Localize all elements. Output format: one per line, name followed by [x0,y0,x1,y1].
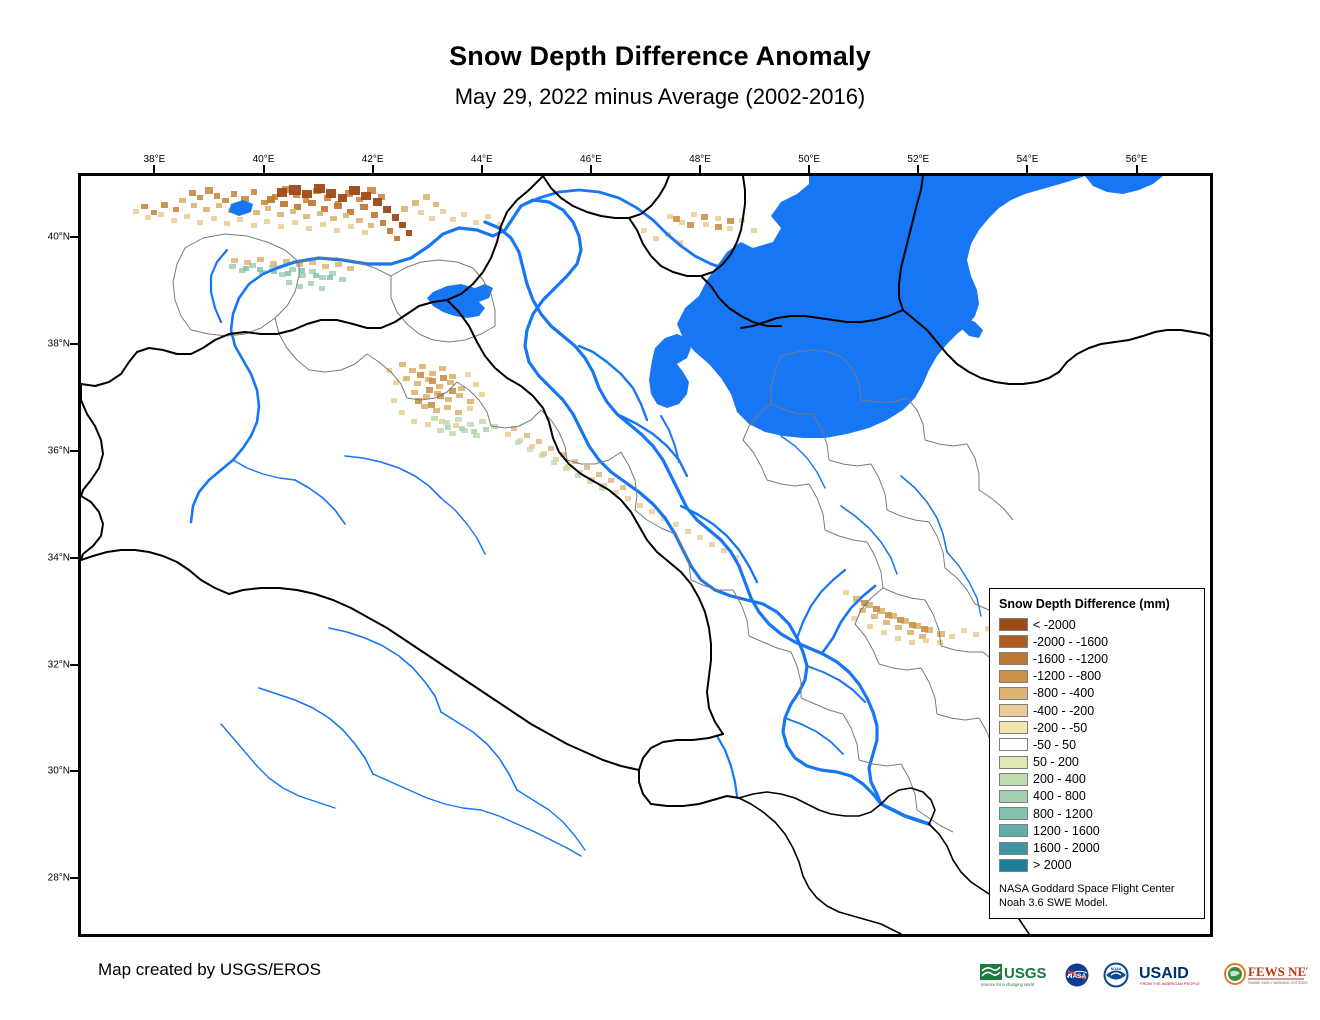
page-subtitle: May 29, 2022 minus Average (2002-2016) [0,85,1320,109]
latitude-tick-mark [70,877,78,879]
logo-bar: USGS science for a changing world NASA N… [980,958,1308,992]
legend-label: 1200 - 1600 [1033,824,1100,838]
longitude-tick-mark [917,165,919,173]
legend-row: -400 - -200 [999,702,1197,719]
legend-swatch [999,738,1028,751]
noaa-logo: NOAA [1102,962,1130,988]
longitude-tick-label: 54°E [1017,154,1039,165]
svg-text:NASA: NASA [1068,973,1087,980]
legend-row: 50 - 200 [999,754,1197,771]
longitude-tick-label: 48°E [689,154,711,165]
latitude-tick-label: 38°N [48,338,70,349]
latitude-tick-label: 32°N [48,659,70,670]
legend-swatch [999,687,1028,700]
usgs-logo: USGS science for a changing world [980,962,1052,988]
legend-row: -800 - -400 [999,685,1197,702]
latitude-tick-label: 30°N [48,766,70,777]
legend-row: -200 - -50 [999,719,1197,736]
legend-class-list: < -2000-2000 - -1600-1600 - -1200-1200 -… [999,616,1197,874]
longitude-tick-label: 46°E [580,154,602,165]
legend-label: -400 - -200 [1033,704,1094,718]
legend-label: -1600 - -1200 [1033,652,1108,666]
latitude-tick-label: 34°N [48,552,70,563]
latitude-tick-mark [70,343,78,345]
map-page: Snow Depth Difference Anomaly May 29, 20… [0,0,1320,1020]
longitude-tick-label: 42°E [362,154,384,165]
legend-swatch [999,704,1028,717]
legend-row: 800 - 1200 [999,805,1197,822]
legend-label: -1200 - -800 [1033,669,1101,683]
latitude-tick-mark [70,770,78,772]
legend-label: 200 - 400 [1033,772,1086,786]
legend-label: 400 - 800 [1033,789,1086,803]
legend-swatch [999,756,1028,769]
legend-row: 400 - 800 [999,788,1197,805]
svg-text:FAMINE EARLY WARNING SYSTEMS N: FAMINE EARLY WARNING SYSTEMS NETWORK [1248,981,1308,985]
legend-swatch [999,635,1028,648]
legend-swatch [999,652,1028,665]
latitude-axis: 40°N38°N36°N34°N32°N30°N28°N [28,173,78,937]
longitude-tick-mark [590,165,592,173]
longitude-tick-mark [699,165,701,173]
svg-text:science for a changing world: science for a changing world [981,982,1035,987]
legend-swatch [999,807,1028,820]
legend-label: 1600 - 2000 [1033,841,1100,855]
longitude-tick-label: 52°E [907,154,929,165]
legend-swatch [999,773,1028,786]
svg-text:USAID: USAID [1139,965,1189,982]
svg-text:FROM THE AMERICAN PEOPLE: FROM THE AMERICAN PEOPLE [1140,981,1200,986]
legend-row: > 2000 [999,857,1197,874]
longitude-tick-mark [153,165,155,173]
usaid-logo: USAID FROM THE AMERICAN PEOPLE [1139,962,1215,988]
legend-row: 200 - 400 [999,771,1197,788]
longitude-tick-mark [481,165,483,173]
latitude-tick-label: 36°N [48,445,70,456]
longitude-axis: 38°E40°E42°E44°E46°E48°E50°E52°E54°E56°E [78,143,1213,173]
legend-source-line-2: Noah 3.6 SWE Model. [999,897,1197,911]
legend-row: -50 - 50 [999,736,1197,753]
legend-label: -200 - -50 [1033,721,1087,735]
legend-label: < -2000 [1033,618,1076,632]
longitude-tick-mark [1026,165,1028,173]
legend-swatch [999,824,1028,837]
longitude-tick-mark [372,165,374,173]
legend-swatch [999,670,1028,683]
legend-label: -800 - -400 [1033,686,1094,700]
longitude-tick-mark [1136,165,1138,173]
latitude-tick-mark [70,664,78,666]
title-block: Snow Depth Difference Anomaly May 29, 20… [0,42,1320,109]
legend-label: > 2000 [1033,858,1072,872]
longitude-tick-label: 56°E [1126,154,1148,165]
longitude-tick-mark [808,165,810,173]
legend-row: < -2000 [999,616,1197,633]
legend-row: -2000 - -1600 [999,633,1197,650]
legend-swatch [999,790,1028,803]
svg-text:USGS: USGS [1004,965,1047,982]
legend-swatch [999,859,1028,872]
legend-row: -1200 - -800 [999,668,1197,685]
footer-credit: Map created by USGS/EROS [98,960,321,980]
latitude-tick-mark [70,450,78,452]
fews-net-logo: FEWS NET FAMINE EARLY WARNING SYSTEMS NE… [1224,962,1308,988]
legend-swatch [999,721,1028,734]
legend-source-line-1: NASA Goddard Space Flight Center [999,883,1197,897]
longitude-tick-label: 44°E [471,154,493,165]
page-title: Snow Depth Difference Anomaly [0,42,1320,72]
legend-label: -50 - 50 [1033,738,1076,752]
svg-text:NOAA: NOAA [1111,967,1122,971]
latitude-tick-label: 28°N [48,873,70,884]
latitude-tick-mark [70,557,78,559]
legend-title: Snow Depth Difference (mm) [999,597,1197,611]
legend-swatch [999,842,1028,855]
longitude-tick-label: 50°E [798,154,820,165]
map-legend: Snow Depth Difference (mm) < -2000-2000 … [989,588,1205,919]
longitude-tick-mark [263,165,265,173]
latitude-tick-label: 40°N [48,232,70,243]
legend-label: -2000 - -1600 [1033,635,1108,649]
legend-label: 800 - 1200 [1033,807,1093,821]
longitude-tick-label: 38°E [143,154,165,165]
legend-row: -1600 - -1200 [999,650,1197,667]
legend-row: 1600 - 2000 [999,839,1197,856]
latitude-tick-mark [70,236,78,238]
longitude-tick-label: 40°E [253,154,275,165]
nasa-logo: NASA [1061,962,1093,988]
legend-source-note: NASA Goddard Space Flight Center Noah 3.… [999,883,1197,911]
legend-swatch [999,618,1028,631]
svg-text:FEWS NET: FEWS NET [1248,964,1308,979]
legend-label: 50 - 200 [1033,755,1079,769]
legend-row: 1200 - 1600 [999,822,1197,839]
